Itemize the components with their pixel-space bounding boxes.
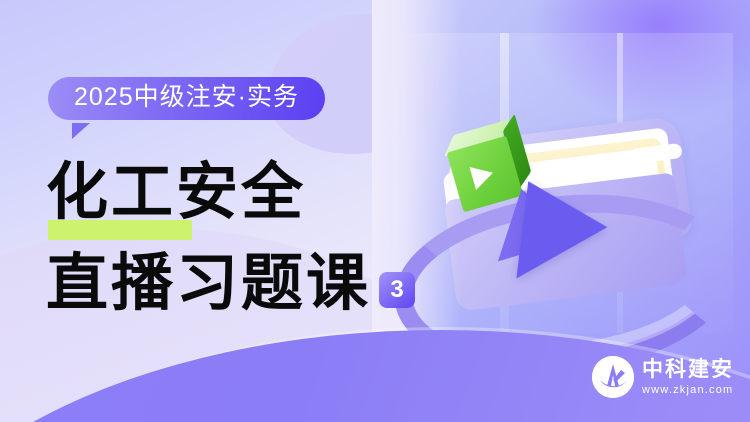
brand-logo-mark-icon [592,356,634,398]
page-title-line-1: 化工安全 [46,162,306,224]
page-title-line-2-group: 直播习题课 3 [46,253,415,315]
brand-logo-text: 中科建安 www.zkjan.com [642,358,734,396]
course-badge: 2025中级注安·实务 [48,77,325,120]
brand-logo[interactable]: 中科建安 www.zkjan.com [592,356,734,398]
course-banner: 2025中级注安·实务 化工安全 直播习题课 3 中科建安 www.zkjan.… [0,0,750,422]
badge-tail [72,123,90,139]
arrow-head-icon [516,181,611,289]
brand-name: 中科建安 [642,358,734,381]
brand-url: www.zkjan.com [642,384,734,396]
page-title-line-2: 直播习题课 [46,253,371,315]
episode-number-badge: 3 [379,272,415,308]
play-triangle-icon [469,161,496,190]
